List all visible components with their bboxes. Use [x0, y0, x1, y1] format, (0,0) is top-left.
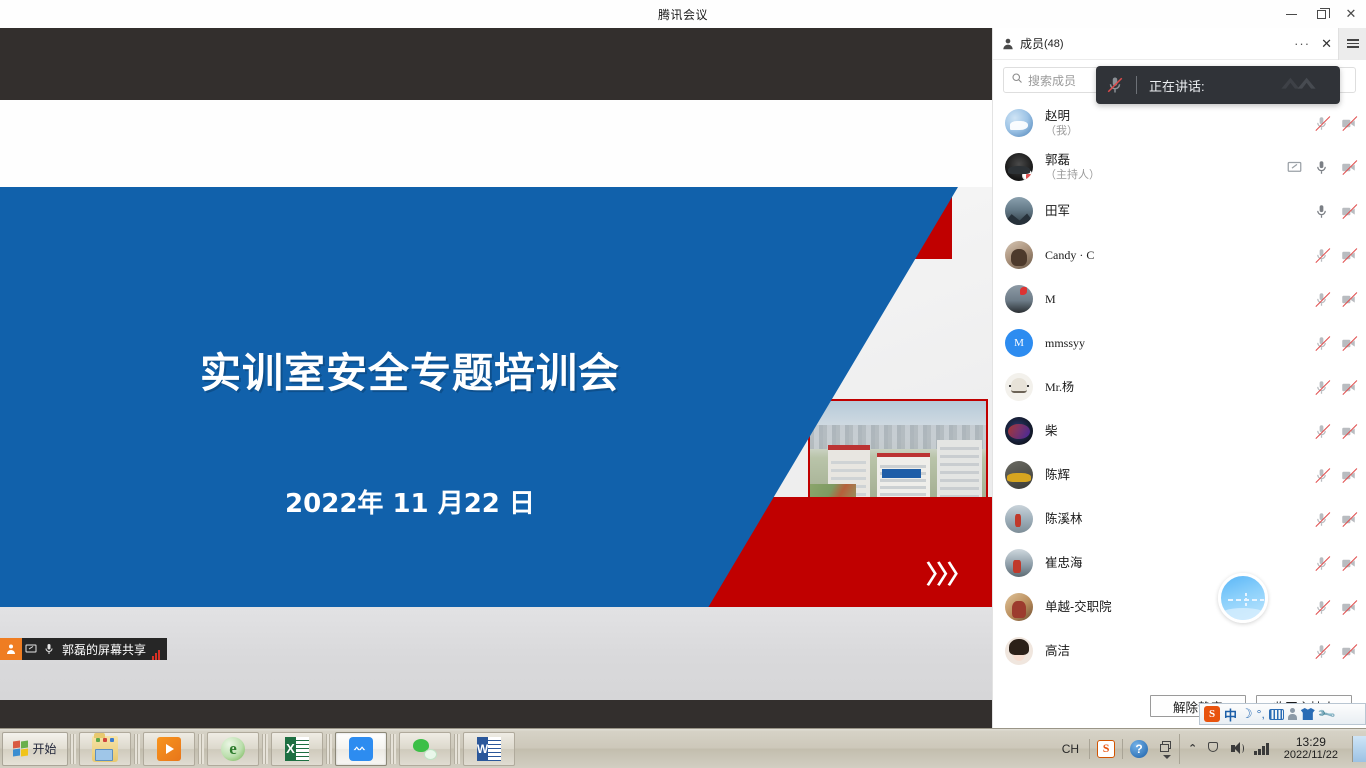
- help-tray-icon[interactable]: ?: [1130, 740, 1148, 758]
- avatar: M: [1005, 329, 1033, 357]
- camera-muted-icon[interactable]: [1341, 468, 1356, 483]
- clock-time: 13:29: [1296, 736, 1326, 749]
- camera-muted-icon[interactable]: [1341, 248, 1356, 263]
- moon-icon[interactable]: ☽: [1241, 705, 1253, 723]
- participant-name-wrap: 单越-交职院: [1045, 600, 1314, 615]
- participant-name: Mr.杨: [1045, 380, 1314, 395]
- camera-muted-icon[interactable]: [1341, 380, 1356, 395]
- screen-share-status-bar[interactable]: 郭磊的屏幕共享: [0, 638, 167, 660]
- shared-screen-bottom-band: [0, 700, 992, 728]
- screen-share-icon: [1287, 160, 1302, 175]
- avatar: [1005, 417, 1033, 445]
- slide-date: 2022年 11 月22 日: [0, 483, 820, 520]
- participant-name-wrap: Candy · C: [1045, 248, 1314, 263]
- person-icon: [0, 638, 22, 660]
- participant-name-wrap: 田军: [1045, 204, 1314, 219]
- camera-muted-icon[interactable]: [1341, 512, 1356, 527]
- avatar: [1005, 549, 1033, 577]
- punctuation-icon[interactable]: °,: [1257, 705, 1265, 723]
- window-title: 腾讯会议: [658, 6, 708, 23]
- participant-row[interactable]: M: [993, 277, 1366, 321]
- wechat-icon: [413, 737, 437, 761]
- avatar: [1005, 593, 1033, 621]
- minimize-icon[interactable]: [1276, 0, 1306, 28]
- taskbar-item-wechat[interactable]: [399, 732, 451, 766]
- participants-list[interactable]: 赵明（我）郭磊（主持人）田军Candy · CMMmmssyyMr.杨柴陈辉陈溪…: [993, 101, 1366, 684]
- presentation-slide: 〉〉〉 实训室安全专题培训会 2022年 11 月22 日: [0, 187, 992, 607]
- excel-icon: X: [285, 737, 309, 761]
- taskbar-item-internet-explorer[interactable]: [207, 732, 259, 766]
- participants-count: (48): [1044, 38, 1064, 50]
- tencent-meeting-logo-icon: [1276, 74, 1330, 96]
- camera-muted-icon[interactable]: [1341, 424, 1356, 439]
- participant-name-wrap: 柴: [1045, 424, 1314, 439]
- participant-name-wrap: 赵明（我）: [1045, 109, 1314, 138]
- microphone-icon: [40, 643, 58, 655]
- media-player-icon: [157, 737, 181, 761]
- participant-status-icons: [1314, 512, 1356, 527]
- participant-row[interactable]: 柴: [993, 409, 1366, 453]
- window-switch-icon[interactable]: [1159, 740, 1173, 758]
- participant-status-icons: [1314, 644, 1356, 659]
- camera-muted-icon[interactable]: [1341, 600, 1356, 615]
- floating-bubble-icon[interactable]: [1218, 573, 1268, 623]
- participant-row[interactable]: 单越-交职院: [993, 585, 1366, 629]
- participant-row[interactable]: 郭磊（主持人）: [993, 145, 1366, 189]
- participant-row[interactable]: 陈辉: [993, 453, 1366, 497]
- camera-muted-icon[interactable]: [1341, 204, 1356, 219]
- avatar: [1005, 461, 1033, 489]
- skin-icon[interactable]: [1301, 708, 1315, 720]
- participant-row[interactable]: 崔忠海: [993, 541, 1366, 585]
- participant-name-wrap: M: [1045, 292, 1314, 307]
- taskbar-item-tencent-meeting[interactable]: [335, 732, 387, 766]
- avatar: [1005, 153, 1033, 181]
- participant-row[interactable]: 陈溪林: [993, 497, 1366, 541]
- participant-name-wrap: 陈辉: [1045, 468, 1314, 483]
- avatar: [1005, 373, 1033, 401]
- avatar: [1005, 197, 1033, 225]
- avatar: [1005, 241, 1033, 269]
- close-icon[interactable]: ✕: [1336, 0, 1366, 28]
- microphone-muted-icon[interactable]: [1314, 380, 1329, 395]
- share-status-text: 郭磊的屏幕共享: [58, 641, 150, 658]
- participant-status-icons: [1314, 424, 1356, 439]
- microphone-muted-icon[interactable]: [1314, 248, 1329, 263]
- participants-panel: 成员 (48) ··· ✕ 搜索成员 赵明（我）郭磊（主持人）田军Candy ·…: [992, 28, 1366, 728]
- participant-status-icons: [1314, 248, 1356, 263]
- microphone-muted-icon[interactable]: [1314, 336, 1329, 351]
- file-explorer-icon: [92, 736, 118, 762]
- microphone-icon[interactable]: [1314, 204, 1329, 219]
- panel-close-icon[interactable]: ✕: [1315, 36, 1338, 52]
- taskbar-item-excel[interactable]: X: [271, 732, 323, 766]
- participant-name-wrap: 郭磊（主持人）: [1045, 153, 1287, 182]
- language-indicator[interactable]: CH: [1054, 742, 1087, 756]
- signal-bars-icon: [150, 638, 167, 660]
- participant-name: 柴: [1045, 424, 1314, 439]
- sogou-logo-icon[interactable]: S: [1204, 706, 1220, 722]
- shared-screen-top-band: [0, 28, 992, 100]
- microphone-muted-icon[interactable]: [1314, 512, 1329, 527]
- camera-muted-icon[interactable]: [1341, 556, 1356, 571]
- participant-role: （主持人）: [1045, 168, 1287, 182]
- word-icon: W: [477, 737, 501, 761]
- participant-name: 高洁: [1045, 644, 1314, 659]
- windows-taskbar: 开始 X W: [0, 728, 1366, 768]
- participant-name: 田军: [1045, 204, 1314, 219]
- maximize-icon[interactable]: [1306, 0, 1336, 28]
- camera-muted-icon[interactable]: [1341, 160, 1356, 175]
- slide-chevron-decoration: 〉〉〉: [926, 555, 970, 591]
- user-profile-icon[interactable]: [1288, 708, 1297, 720]
- start-button-label: 开始: [32, 740, 56, 757]
- participant-status-icons: [1314, 468, 1356, 483]
- safely-remove-hardware-icon[interactable]: [1206, 741, 1221, 756]
- user-icon: [1001, 37, 1015, 51]
- camera-muted-icon[interactable]: [1341, 116, 1356, 131]
- slide-title: 实训室安全专题培训会: [0, 339, 820, 399]
- participant-name-wrap: 高洁: [1045, 644, 1314, 659]
- hamburger-menu-icon[interactable]: [1338, 28, 1366, 60]
- participants-title: 成员: [1020, 35, 1044, 52]
- toolbox-icon[interactable]: 🔧: [1315, 702, 1338, 725]
- participant-name-wrap: Mr.杨: [1045, 380, 1314, 395]
- participant-status-icons: [1314, 336, 1356, 351]
- internet-explorer-icon: [221, 737, 245, 761]
- network-signal-icon[interactable]: [1254, 742, 1269, 755]
- microphone-muted-icon[interactable]: [1314, 644, 1329, 659]
- microphone-muted-icon[interactable]: [1314, 468, 1329, 483]
- participants-panel-header: 成员 (48) ··· ✕: [993, 28, 1366, 60]
- participant-name: M: [1045, 292, 1314, 307]
- taskbar-item-media-player[interactable]: [143, 732, 195, 766]
- participant-row[interactable]: Mr.杨: [993, 365, 1366, 409]
- participant-status-icons: [1314, 380, 1356, 395]
- participant-status-icons: [1314, 204, 1356, 219]
- participant-name-wrap: mmssyy: [1045, 336, 1314, 351]
- volume-icon[interactable]: [1230, 741, 1245, 756]
- participant-name: 单越-交职院: [1045, 600, 1314, 615]
- participant-row[interactable]: 高洁: [993, 629, 1366, 673]
- chinese-mode-icon[interactable]: 中: [1224, 705, 1237, 723]
- participant-name: 陈辉: [1045, 468, 1314, 483]
- slide-campus-photo: [808, 399, 988, 512]
- meeting-window: 腾讯会议 ✕ 〉〉〉 实训室安全专题培训会 2022年 11 月22 日: [0, 0, 1366, 768]
- windows-logo-icon: [13, 741, 29, 757]
- microphone-muted-icon[interactable]: [1314, 424, 1329, 439]
- avatar: [1005, 285, 1033, 313]
- shared-screen-canvas[interactable]: 〉〉〉 实训室安全专题培训会 2022年 11 月22 日 郭磊的屏幕共享: [0, 28, 992, 700]
- camera-muted-icon[interactable]: [1341, 644, 1356, 659]
- show-desktop-icon[interactable]: [1352, 736, 1366, 762]
- microphone-icon[interactable]: [1314, 160, 1329, 175]
- participant-row[interactable]: Mmmssyy: [993, 321, 1366, 365]
- microphone-muted-icon[interactable]: [1314, 292, 1329, 307]
- avatar: [1005, 109, 1033, 137]
- camera-muted-icon[interactable]: [1341, 292, 1356, 307]
- participant-name: 郭磊: [1045, 153, 1287, 168]
- camera-muted-icon[interactable]: [1341, 336, 1356, 351]
- title-bar: 腾讯会议 ✕: [0, 0, 1366, 28]
- avatar: [1005, 637, 1033, 665]
- more-options-icon[interactable]: ···: [1289, 36, 1315, 51]
- start-button[interactable]: 开始: [2, 732, 68, 766]
- screen-share-icon: [22, 643, 40, 655]
- participant-role: （我）: [1045, 124, 1314, 138]
- speaking-label: 正在讲话:: [1149, 76, 1205, 95]
- microphone-muted-icon[interactable]: [1314, 116, 1329, 131]
- show-hidden-icons-icon[interactable]: ⌃: [1188, 742, 1197, 755]
- search-icon: [1011, 71, 1028, 89]
- microphone-muted-icon: [1106, 76, 1124, 94]
- microphone-muted-icon[interactable]: [1314, 556, 1329, 571]
- search-placeholder: 搜索成员: [1028, 72, 1076, 89]
- participant-name: 崔忠海: [1045, 556, 1314, 571]
- ime-toolbar[interactable]: S 中 ☽ °, 🔧: [1199, 703, 1366, 725]
- participant-status-icons: [1314, 600, 1356, 615]
- tencent-meeting-icon: [349, 737, 373, 761]
- window-controls: ✕: [1276, 0, 1366, 28]
- participant-status-icons: [1314, 556, 1356, 571]
- participant-name: mmssyy: [1045, 336, 1314, 351]
- participant-name: Candy · C: [1045, 248, 1314, 263]
- system-tray: CH S ? ⌃ 13:29 2022/11/22: [1054, 729, 1366, 768]
- participant-row[interactable]: Candy · C: [993, 233, 1366, 277]
- soft-keyboard-icon[interactable]: [1269, 709, 1284, 720]
- participant-row[interactable]: 赵明（我）: [993, 101, 1366, 145]
- taskbar-item-word[interactable]: W: [463, 732, 515, 766]
- sogou-tray-icon[interactable]: S: [1097, 740, 1115, 758]
- participant-name-wrap: 陈溪林: [1045, 512, 1314, 527]
- participant-status-icons: [1287, 160, 1356, 175]
- avatar: [1005, 505, 1033, 533]
- participant-status-icons: [1314, 116, 1356, 131]
- participant-name-wrap: 崔忠海: [1045, 556, 1314, 571]
- participant-row[interactable]: 田军: [993, 189, 1366, 233]
- taskbar-item-file-explorer[interactable]: [79, 732, 131, 766]
- microphone-muted-icon[interactable]: [1314, 600, 1329, 615]
- speaking-indicator-tooltip: 正在讲话:: [1096, 66, 1340, 104]
- clock[interactable]: 13:29 2022/11/22: [1278, 736, 1344, 762]
- participant-name: 陈溪林: [1045, 512, 1314, 527]
- participant-status-icons: [1314, 292, 1356, 307]
- clock-date: 2022/11/22: [1284, 749, 1338, 762]
- participant-name: 赵明: [1045, 109, 1314, 124]
